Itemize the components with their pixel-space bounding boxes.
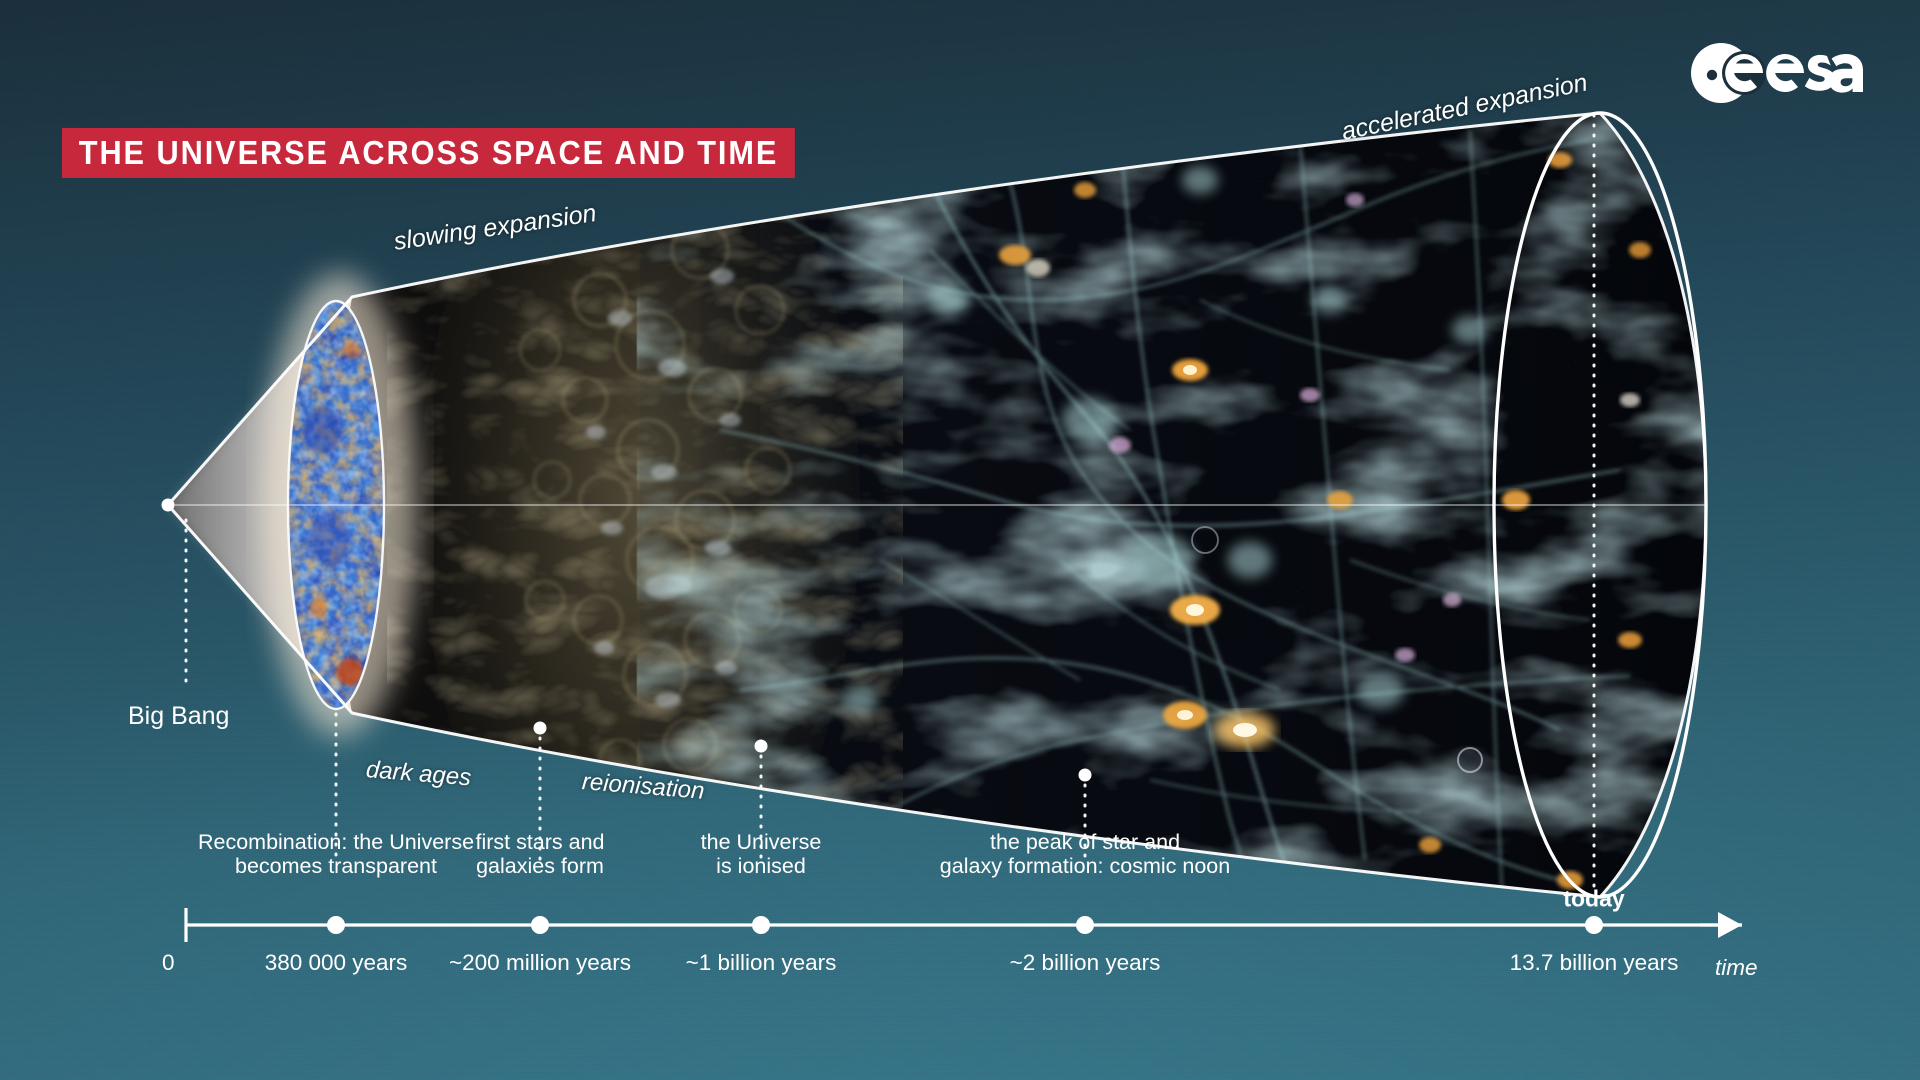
timeline-caption-ionised: the Universe is ionised (701, 830, 822, 878)
caption-line-2: galaxy formation: cosmic noon (940, 854, 1230, 878)
caption-line-2: becomes transparent (198, 854, 474, 878)
page-title: THE UNIVERSE ACROSS SPACE AND TIME (62, 128, 795, 178)
timeline-caption-recombination: Recombination: the Universe becomes tran… (198, 830, 474, 878)
timeline-dot-first-stars (531, 916, 549, 934)
timeline-value-today: 13.7 billion years (1510, 950, 1679, 976)
timeline-value-cosmic-noon: ~2 billion years (1010, 950, 1161, 976)
timeline-value-ionised: ~1 billion years (686, 950, 837, 976)
timeline-value-first-stars: ~200 million years (449, 950, 631, 976)
caption-line-1: Recombination: the Universe (198, 830, 474, 854)
timeline-value-zero: 0 (162, 950, 175, 976)
timeline-dot-recombination (327, 916, 345, 934)
timeline-dot-ionised (752, 916, 770, 934)
timeline-caption-today: today (1563, 886, 1624, 912)
caption-line-1: first stars and (475, 830, 604, 854)
timeline-axis-label: time (1715, 955, 1758, 981)
timeline-caption-cosmic-noon: the peak of star and galaxy formation: c… (940, 830, 1230, 878)
timeline-caption-first-stars: first stars and galaxies form (475, 830, 604, 878)
esa-logo[interactable] (1690, 42, 1870, 109)
timeline-dot-today (1585, 916, 1603, 934)
caption-line-1: the peak of star and (940, 830, 1230, 854)
caption-line-2: galaxies form (475, 854, 604, 878)
caption-line-2: is ionised (701, 854, 822, 878)
esa-circle-logo (1691, 43, 1863, 103)
timeline-dot-cosmic-noon (1076, 916, 1094, 934)
caption-line-1: the Universe (701, 830, 822, 854)
caption-line-1: today (1563, 886, 1624, 912)
timeline-value-recombination: 380 000 years (265, 950, 408, 976)
